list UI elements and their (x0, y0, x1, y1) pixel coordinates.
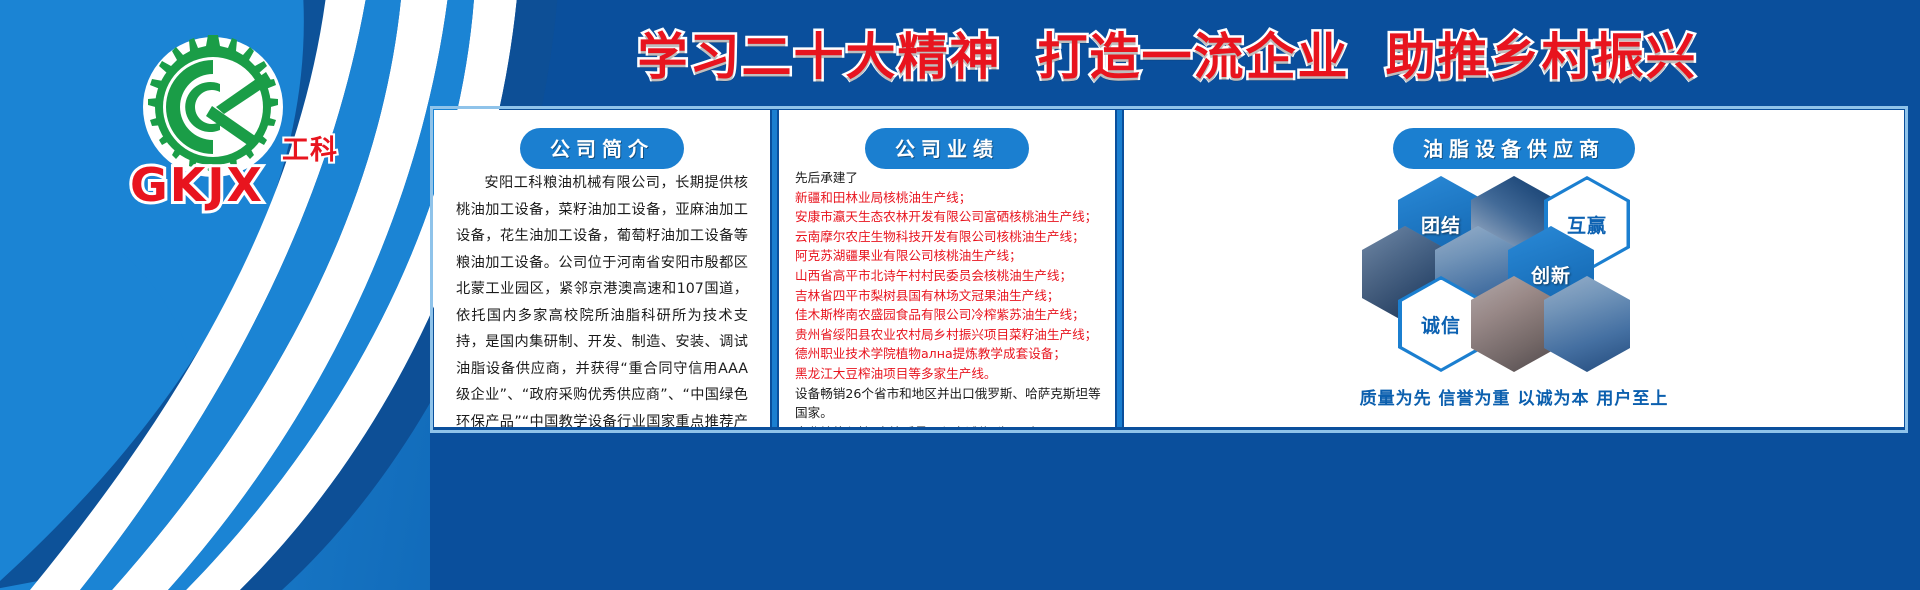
hex-integrity-label: 诚信 (1402, 280, 1481, 369)
card-company-performance: 公司业绩 先后承建了 新疆和田林业局核桃油生产线；安康市瀛天生态农林开发有限公司… (779, 110, 1115, 427)
card-intro-badge: 公司简介 (520, 128, 684, 169)
page-title: 学习二十大精神 打造一流企业 助推乡村振兴 (430, 12, 1905, 94)
card-supplier: 油脂设备供应商 团结 互赢 创新 诚信 质量为先 信誉为重 以诚为本 用户至上 (1124, 110, 1904, 427)
card-intro-body: 安阳工科粮油机械有限公司，长期提供核桃油加工设备，菜籽油加工设备，亚麻油加工设备… (456, 170, 748, 427)
performance-lead: 先后承建了 (795, 168, 1103, 188)
title-segment-3: 助推乡村振兴 (1386, 17, 1698, 89)
performance-project-item: 新疆和田林业局核桃油生产线； (795, 188, 1103, 208)
logo-english-text: GKJX (130, 158, 264, 212)
card-company-intro: 公司简介 安阳工科粮油机械有限公司，长期提供核桃油加工设备，菜籽油加工设备，亚麻… (434, 110, 770, 427)
performance-project-item: 安康市瀛天生态农林开发有限公司富硒核桃油生产线； (795, 207, 1103, 227)
performance-project-item: 黑龙江大豆榨油项目等多家生产线。 (795, 364, 1103, 384)
frame-top (430, 106, 1908, 109)
performance-project-item: 山西省高平市北诗午村村民委员会核桃油生产线； (795, 266, 1103, 286)
performance-tail-line: 企业始终坚持“专注质量，坚守诚信”为原则。 (795, 423, 1103, 427)
banner-root: 工科 GKJX 学习二十大精神 打造一流企业 助推乡村振兴 公司简介 安阳工科粮… (0, 0, 1920, 590)
performance-project-list: 新疆和田林业局核桃油生产线；安康市瀛天生态农林开发有限公司富硒核桃油生产线；云南… (795, 188, 1103, 384)
performance-project-item: 云南摩尔农庄生物科技开发有限公司核桃油生产线； (795, 227, 1103, 247)
frame-left (430, 106, 433, 433)
frame-right (1905, 106, 1908, 433)
hexagon-cluster: 团结 互赢 创新 诚信 (1124, 168, 1904, 368)
performance-project-item: 德州职业技术学院植物ална提炼教学成套设备； (795, 344, 1103, 364)
performance-project-item: 吉林省四平市梨树县国有林场文冠果油生产线； (795, 286, 1103, 306)
card-supplier-badge: 油脂设备供应商 (1393, 128, 1635, 169)
divider-1 (772, 110, 777, 427)
frame-bottom (430, 430, 1908, 433)
supplier-slogan: 质量为先 信誉为重 以诚为本 用户至上 (1124, 384, 1904, 409)
performance-project-item: 贵州省绥阳县农业农村局乡村振兴项目菜籽油生产线； (795, 325, 1103, 345)
performance-project-item: 阿克苏湖疆果业有限公司核桃油生产线； (795, 246, 1103, 266)
divider-2 (1117, 110, 1122, 427)
performance-project-item: 佳木斯桦南农盛园食品有限公司冷榨紫苏油生产线； (795, 305, 1103, 325)
performance-tail-notes: 设备畅销26个省市和地区并出口俄罗斯、哈萨克斯坦等国家。企业始终坚持“专注质量，… (795, 384, 1103, 427)
title-segment-1: 学习二十大精神 (638, 17, 1002, 89)
performance-tail-line: 设备畅销26个省市和地区并出口俄罗斯、哈萨克斯坦等国家。 (795, 384, 1103, 423)
card-performance-badge: 公司业绩 (865, 128, 1029, 169)
logo-chinese-text: 工科 (282, 128, 338, 167)
card-performance-body: 先后承建了 新疆和田林业局核桃油生产线；安康市瀛天生态农林开发有限公司富硒核桃油… (795, 168, 1103, 427)
company-logo: 工科 GKJX (120, 32, 330, 207)
title-segment-2: 打造一流企业 (1038, 17, 1350, 89)
